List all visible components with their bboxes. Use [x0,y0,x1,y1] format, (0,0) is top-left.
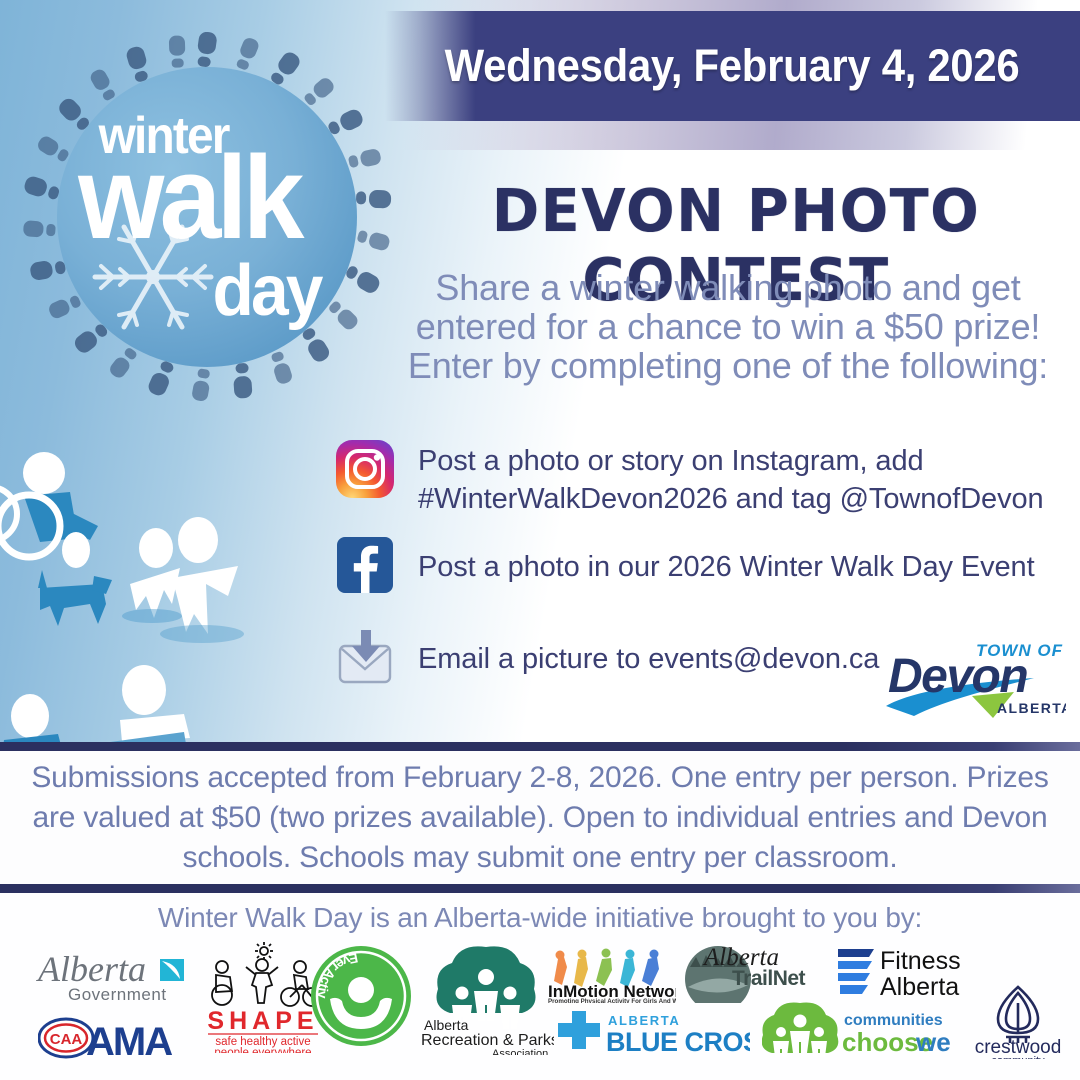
sponsor-footer: Winter Walk Day is an Alberta-wide initi… [0,893,1080,1080]
arpa-line1: Alberta [424,1017,469,1033]
inmotion-network-logo: InMotion Network Promoting Physical Acti… [546,941,676,1003]
email-icon[interactable] [334,628,396,690]
date-banner: Wednesday, February 4, 2026 [385,11,1080,121]
arpa-line3: Association [492,1048,548,1055]
wheelchair-figure [0,452,98,568]
government-word: Government [68,985,167,1003]
winter-walk-day-logo: winter walk day [22,32,392,402]
inmotion-tagline: Promoting Physical Activity For Girls An… [548,998,676,1003]
facebook-icon[interactable] [334,536,396,594]
caa-text: CAA [50,1031,83,1048]
logo-wordmark: winter walk day [57,67,357,367]
trailnet-text: TrailNet [732,967,806,990]
logo-word-day: day [212,255,320,327]
ever-active-schools-logo: Ever Active Schools [308,943,414,1049]
intro-paragraph: Share a winter walking photo and get ent… [378,268,1078,385]
entry-text-facebook: Post a photo in our 2026 Winter Walk Day… [418,536,1035,586]
shadow-ellipse [160,625,244,643]
divider-bottom [0,884,1080,893]
crestwood-community-logo: crestwood community [962,983,1074,1059]
community-text: community [991,1055,1045,1059]
shape-tagline-2: people everywhere [214,1047,311,1053]
shape-word: SHAPE [207,1007,318,1035]
dog-figure [38,570,112,626]
caa-ama-logo: CAA AMA [38,1013,190,1061]
alberta-recreation-parks-association-logo: Alberta Recreation & Parks Association [418,941,554,1055]
alberta-blue-cross-logo: ALBERTA BLUE CROSS [546,1011,750,1055]
list-item-instagram: Post a photo or story on Instagram, add … [334,438,1074,518]
poster-root: winter walk day [0,0,1080,1080]
walker-child-figure [130,528,180,618]
shape-logo: SHAPE safe healthy active people everywh… [204,941,322,1053]
sled-figure [0,665,190,742]
top-section: winter walk day [0,0,1080,742]
communities-choosewell-logo: communities choose well [762,999,952,1057]
town-of-devon-logo: TOWN OF Devon ALBERTA [884,634,1066,724]
fitness-text: Fitness [880,947,961,975]
footer-heading: Winter Walk Day is an Alberta-wide initi… [0,902,1080,934]
fitness-alberta-logo: Fitness Alberta [836,943,974,1001]
shadow-ellipse [122,609,182,623]
alberta-government-word: Alberta [36,949,146,989]
event-date: Wednesday, February 4, 2026 [445,40,1020,92]
blue-cross-text: BLUE CROSS [606,1027,750,1055]
devon-name-text: Devon [888,650,1027,703]
well-text: well [915,1027,952,1057]
devon-alberta-text: ALBERTA [997,700,1066,716]
terms-text: Submissions accepted from February 2-8, … [25,758,1055,878]
entry-text-email: Email a picture to events@devon.ca [418,628,879,678]
entry-text-instagram: Post a photo or story on Instagram, add … [418,438,1074,518]
list-item-facebook: Post a photo in our 2026 Winter Walk Day… [334,536,1074,606]
instagram-icon[interactable] [334,438,396,500]
divider-top [0,742,1080,751]
alberta-government-logo: Alberta Government [36,947,196,1003]
arpa-line2: Recreation & Parks [421,1032,554,1049]
ama-text: AMA [86,1020,172,1061]
logo-word-walk: walk [78,139,300,257]
walkers-illustration [0,418,334,742]
fitness-alberta-text: Alberta [880,973,959,1001]
terms-band: Submissions accepted from February 2-8, … [0,751,1080,884]
alberta-trailnet-logo: Alberta TrailNet [676,941,822,1003]
blue-cross-alberta-text: ALBERTA [608,1013,680,1028]
sponsor-logo-row: Alberta Government CAA AMA [0,941,1080,1080]
